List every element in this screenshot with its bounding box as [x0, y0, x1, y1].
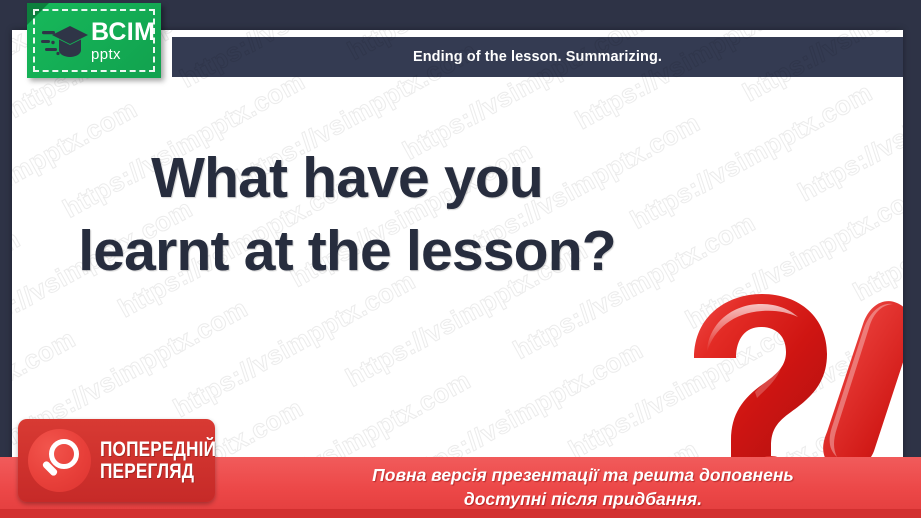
slide-heading-line-1: What have you: [151, 146, 543, 210]
question-mark-shape: [694, 294, 827, 460]
brand-logo[interactable]: ВСІМ pptx: [27, 3, 161, 78]
preview-badge-circle: [28, 429, 91, 492]
graduation-cap-icon: [41, 18, 89, 64]
slide-heading: What have you learnt at the lesson?: [42, 142, 652, 288]
magnifier-icon: [39, 439, 81, 482]
purchase-notice-text: Повна версія презентації та решта доповн…: [273, 464, 893, 511]
presentation-viewer: https://vsimpptx.comhttps://vsimpptx.com…: [0, 0, 921, 518]
slide-heading-line-2: learnt at the lesson?: [42, 215, 652, 288]
watermark-text: https://vsimpptx.com: [625, 77, 877, 236]
purchase-notice-line-1: Повна версія презентації та решта доповн…: [372, 465, 794, 485]
exclamation-mark-shape: [823, 301, 903, 472]
watermark-text: https://vsimpptx.com: [848, 149, 903, 308]
logo-subtitle: pptx: [91, 47, 155, 62]
slide-header-bar: Ending of the lesson. Summarizing.: [172, 37, 903, 77]
slide-header-title: Ending of the lesson. Summarizing.: [413, 49, 662, 65]
watermark-text: https://vsimpptx.com: [168, 265, 420, 424]
watermark-text: https://vsimpptx.com: [514, 30, 766, 36]
preview-badge[interactable]: ПОПЕРЕДНІЙ ПЕРЕГЛЯД: [18, 419, 215, 502]
watermark-text: https://vsimpptx.com: [12, 223, 25, 382]
preview-badge-line-2: ПЕРЕГЛЯД: [100, 461, 216, 482]
preview-badge-line-1: ПОПЕРЕДНІЙ: [100, 439, 216, 460]
purchase-notice-line-2: доступні після придбання.: [464, 489, 702, 509]
logo-name: ВСІМ: [91, 20, 155, 45]
